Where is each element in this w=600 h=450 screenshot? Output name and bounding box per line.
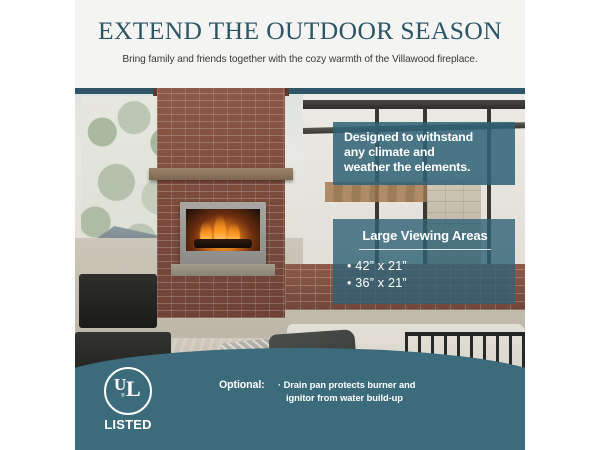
callout-line-2: any climate and: [344, 145, 505, 160]
optional-label: Optional:: [219, 379, 265, 391]
pergola-beam: [303, 100, 525, 109]
ul-listed-label: LISTED: [97, 417, 159, 432]
page-title: EXTEND THE OUTDOOR SEASON: [0, 16, 600, 46]
footer-panel: U L ® LISTED Optional: · Drain pan prote…: [75, 348, 525, 450]
patio-chair: [79, 274, 157, 328]
page-subtitle: Bring family and friends together with t…: [0, 54, 600, 65]
fireplace-glass: [186, 209, 260, 251]
deck-railing-top: [405, 332, 525, 336]
viewing-area-size-1: • 42” x 21”: [345, 258, 505, 275]
callout-designed-to-withstand: Designed to withstand any climate and we…: [333, 122, 515, 185]
footer-content: U L ® LISTED Optional: · Drain pan prote…: [75, 348, 525, 450]
marketing-poster: EXTEND THE OUTDOOR SEASON Bring family a…: [0, 0, 600, 450]
right-margin: [525, 0, 600, 450]
callout-line-1: Designed to withstand: [344, 130, 505, 145]
registered-mark-icon: ®: [121, 393, 125, 399]
ul-letter-l: L: [126, 378, 141, 400]
ul-letter-u: U: [114, 376, 126, 393]
fireplace-hearth: [171, 264, 275, 276]
optional-line-2: ignitor from water build-up: [278, 392, 415, 405]
ul-circle-icon: U L ®: [104, 367, 152, 415]
callout-line-3: weather the elements.: [344, 160, 505, 175]
viewing-area-size-2: • 36” x 21”: [345, 275, 505, 292]
left-margin: [0, 0, 75, 450]
optional-line-1: · Drain pan protects burner and: [278, 379, 415, 392]
viewing-areas-title: Large Viewing Areas: [345, 228, 505, 243]
viewing-areas-divider: [359, 249, 490, 250]
fireplace-logs: [194, 239, 252, 248]
fireplace-unit: [180, 202, 266, 264]
wood-mantel: [149, 168, 293, 180]
ul-listed-logo: U L ® LISTED: [97, 367, 159, 432]
optional-description: · Drain pan protects burner and ignitor …: [278, 379, 415, 404]
callout-large-viewing-areas: Large Viewing Areas • 42” x 21” • 36” x …: [333, 219, 515, 304]
